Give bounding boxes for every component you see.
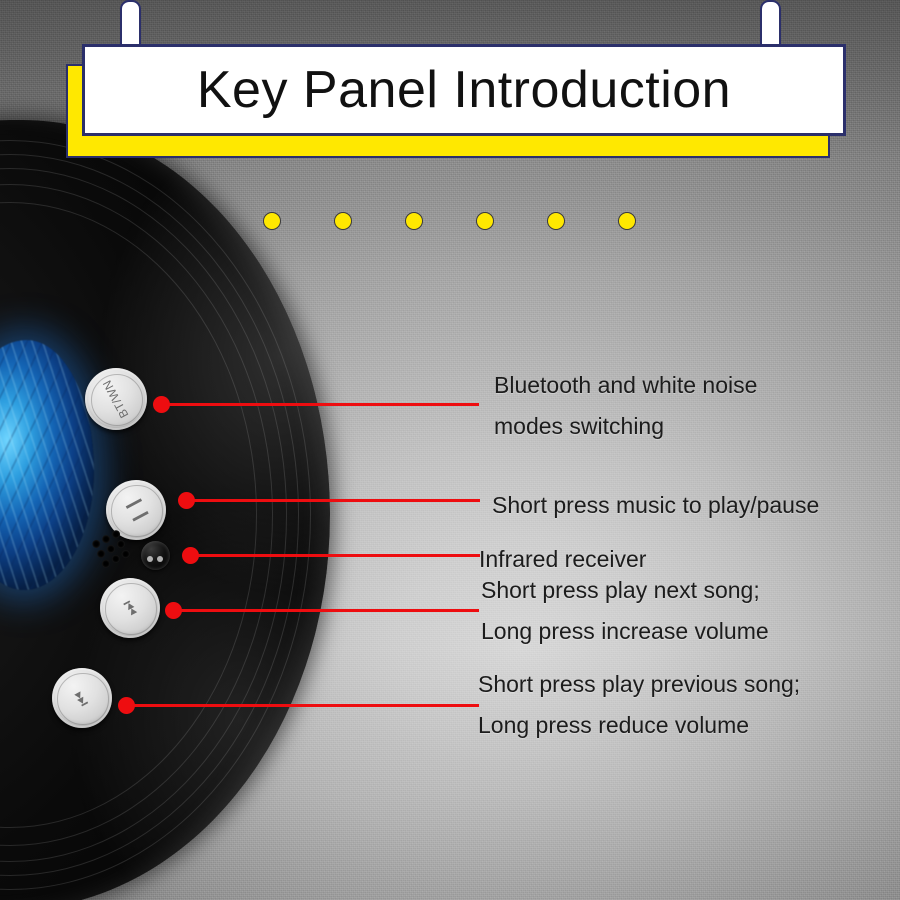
callout-bluetooth-white-noise-text: Bluetooth and white noisemodes switching (494, 365, 757, 447)
callout-next-song-volume-up-line (173, 609, 479, 612)
callout-play-pause-text: Short press music to play/pause (492, 485, 819, 526)
yellow-dot-3 (405, 212, 423, 230)
callout-play-pause-line (186, 499, 480, 502)
yellow-dot-4 (476, 212, 494, 230)
callout-previous-song-volume-down-dot (118, 697, 135, 714)
callout-bluetooth-white-noise-text-line-2: modes switching (494, 406, 757, 447)
yellow-dot-6 (618, 212, 636, 230)
callout-previous-song-volume-down-text: Short press play previous song;Long pres… (478, 664, 800, 746)
callout-play-pause-text-line-1: Short press music to play/pause (492, 485, 819, 526)
callout-bluetooth-white-noise-text-line-1: Bluetooth and white noise (494, 365, 757, 406)
title-banner: Key Panel Introduction (72, 44, 832, 136)
next-track-button[interactable]: ⏭ (100, 578, 160, 638)
callout-next-song-volume-up-text-line-1: Short press play next song; (481, 570, 769, 611)
infrared-receiver (141, 541, 170, 570)
callout-next-song-volume-up-dot (165, 602, 182, 619)
prev-track-button-glyph-icon: ⏮ (71, 687, 93, 709)
play-pause-button-glyph-icon: ❙❙ (122, 493, 150, 526)
yellow-dot-5 (547, 212, 565, 230)
callout-previous-song-volume-down-line (126, 704, 479, 707)
callout-next-song-volume-up-text-line-2: Long press increase volume (481, 611, 769, 652)
yellow-dot-1 (263, 212, 281, 230)
prev-track-button[interactable]: ⏮ (52, 668, 112, 728)
callout-play-pause-dot (178, 492, 195, 509)
next-track-button-glyph-icon: ⏭ (119, 597, 141, 619)
bt-wn-button-label: BT/WN (100, 378, 132, 421)
callout-infrared-receiver-line (190, 554, 480, 557)
callout-infrared-receiver-dot (182, 547, 199, 564)
callout-bluetooth-white-noise-line (161, 403, 479, 406)
bt-wn-button[interactable]: BT/WN (85, 368, 147, 430)
callout-previous-song-volume-down-text-line-2: Long press reduce volume (478, 705, 800, 746)
callout-previous-song-volume-down-text-line-1: Short press play previous song; (478, 664, 800, 705)
callout-bluetooth-white-noise-dot (153, 396, 170, 413)
infographic-canvas: BT/WN❙❙⏭⏮ Bluetooth and white noisemodes… (0, 0, 900, 900)
callout-next-song-volume-up-text: Short press play next song;Long press in… (481, 570, 769, 652)
page-title: Key Panel Introduction (197, 60, 731, 120)
banner-white-plate: Key Panel Introduction (82, 44, 846, 136)
yellow-dot-2 (334, 212, 352, 230)
